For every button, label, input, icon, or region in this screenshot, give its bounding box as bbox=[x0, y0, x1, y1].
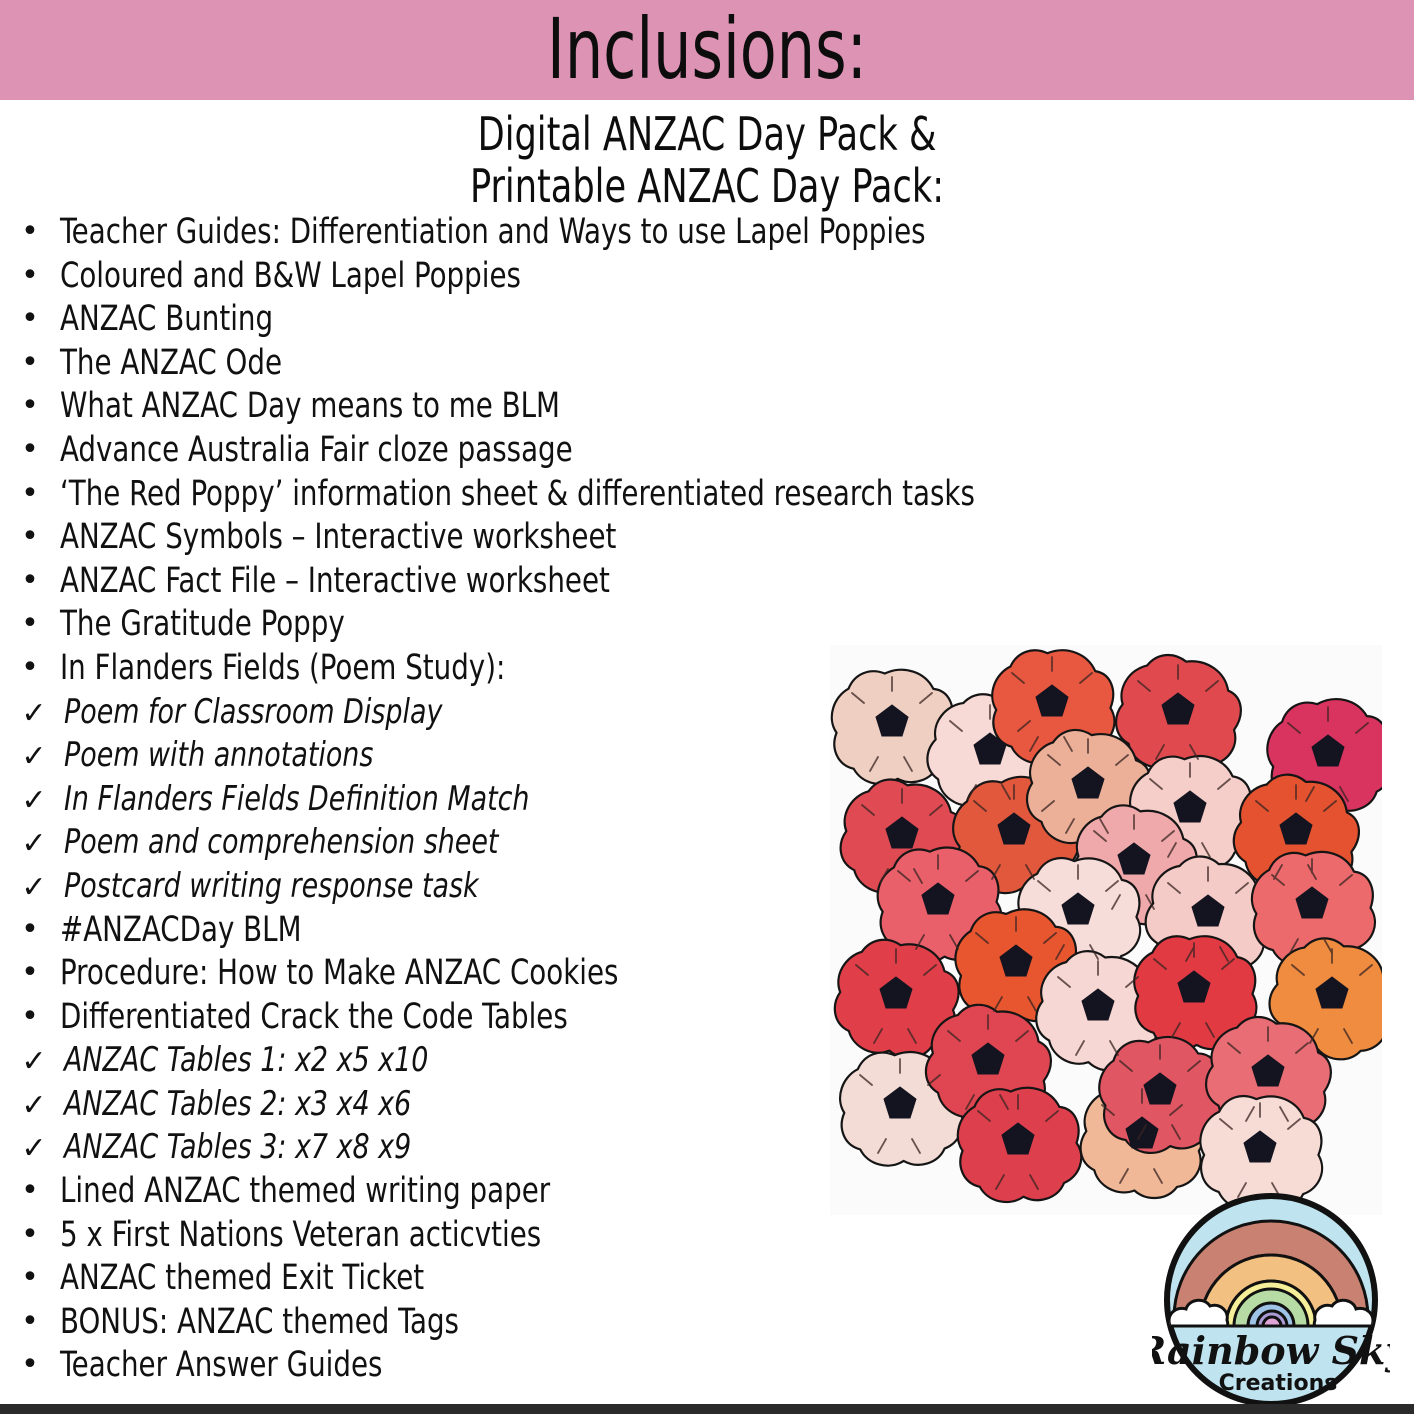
list-item-label: The ANZAC Ode bbox=[60, 344, 282, 382]
bullet-icon: • bbox=[0, 1176, 60, 1206]
page-title: Inclusions: bbox=[547, 10, 867, 90]
check-icon: ✓ bbox=[0, 742, 64, 772]
bullet-icon: • bbox=[0, 304, 60, 334]
header-band: Inclusions: bbox=[0, 0, 1414, 100]
list-item-label: 5 x First Nations Veteran acticvties bbox=[60, 1216, 541, 1254]
check-icon: ✓ bbox=[0, 1091, 64, 1121]
list-item-label: ANZAC Bunting bbox=[60, 300, 273, 338]
bullet-icon: • bbox=[0, 391, 60, 421]
paper-poppies-photo bbox=[830, 645, 1382, 1215]
list-item: •5 x First Nations Veteran acticvties bbox=[0, 1216, 830, 1260]
rainbow-sky-creations-logo: Rainbow Sky Creations bbox=[1152, 1192, 1390, 1414]
bullet-icon: • bbox=[0, 1220, 60, 1250]
list-item: •BONUS: ANZAC themed Tags bbox=[0, 1303, 830, 1347]
list-item: •Teacher Guides: Differentiation and Way… bbox=[0, 213, 830, 257]
bullet-icon: • bbox=[0, 609, 60, 639]
list-item: •#ANZACDay BLM bbox=[0, 911, 830, 955]
list-item-label: ‘The Red Poppy’ information sheet & diff… bbox=[60, 475, 975, 513]
bottom-band bbox=[0, 1404, 1414, 1414]
list-item: ✓Poem with annotations bbox=[0, 736, 830, 780]
list-item-label: Lined ANZAC themed writing paper bbox=[60, 1172, 550, 1210]
list-item-label: Poem for Classroom Display bbox=[64, 693, 442, 731]
bullet-icon: • bbox=[0, 479, 60, 509]
list-item: ✓ANZAC Tables 2: x3 x4 x6 bbox=[0, 1085, 830, 1129]
list-item: ✓Poem and comprehension sheet bbox=[0, 823, 830, 867]
check-icon: ✓ bbox=[0, 699, 64, 729]
list-item-label: Poem with annotations bbox=[64, 736, 373, 774]
list-item: •Advance Australia Fair cloze passage bbox=[0, 431, 830, 475]
list-item: ✓ANZAC Tables 1: x2 x5 x10 bbox=[0, 1041, 830, 1085]
check-icon: ✓ bbox=[0, 786, 64, 816]
list-item: ✓In Flanders Fields Definition Match bbox=[0, 780, 830, 824]
logo-title: Rainbow Sky bbox=[1152, 1328, 1390, 1373]
list-item-label: ANZAC Tables 2: x3 x4 x6 bbox=[64, 1085, 411, 1123]
list-item-label: ANZAC Tables 1: x2 x5 x10 bbox=[64, 1041, 428, 1079]
list-item: ✓Poem for Classroom Display bbox=[0, 693, 830, 737]
list-item-label: ANZAC Tables 3: x7 x8 x9 bbox=[64, 1128, 411, 1166]
list-item-label: Teacher Answer Guides bbox=[60, 1346, 382, 1384]
bullet-icon: • bbox=[0, 348, 60, 378]
list-item: ✓ANZAC Tables 3: x7 x8 x9 bbox=[0, 1128, 830, 1172]
list-item: •What ANZAC Day means to me BLM bbox=[0, 387, 830, 431]
list-item-label: Postcard writing response task bbox=[64, 867, 479, 905]
subtitle-line-2: Printable ANZAC Day Pack: bbox=[106, 160, 1308, 212]
list-item-label: In Flanders Fields (Poem Study): bbox=[60, 649, 505, 687]
list-item-label: ANZAC Fact File – Interactive worksheet bbox=[60, 562, 610, 600]
bullet-icon: • bbox=[0, 522, 60, 552]
list-item: •Teacher Answer Guides bbox=[0, 1346, 830, 1390]
subtitle-block: Digital ANZAC Day Pack & Printable ANZAC… bbox=[0, 108, 1414, 212]
list-item-label: Teacher Guides: Differentiation and Ways… bbox=[60, 213, 926, 251]
list-item: •Coloured and B&W Lapel Poppies bbox=[0, 257, 830, 301]
list-item-label: In Flanders Fields Definition Match bbox=[64, 780, 530, 818]
list-item-label: The Gratitude Poppy bbox=[60, 605, 345, 643]
check-icon: ✓ bbox=[0, 873, 64, 903]
bullet-icon: • bbox=[0, 435, 60, 465]
list-item: •‘The Red Poppy’ information sheet & dif… bbox=[0, 475, 830, 519]
check-icon: ✓ bbox=[0, 1047, 64, 1077]
list-item: •ANZAC Bunting bbox=[0, 300, 830, 344]
list-item: •ANZAC Fact File – Interactive worksheet bbox=[0, 562, 830, 606]
bullet-icon: • bbox=[0, 261, 60, 291]
bullet-icon: • bbox=[0, 915, 60, 945]
subtitle-line-1: Digital ANZAC Day Pack & bbox=[106, 108, 1308, 160]
list-item-label: #ANZACDay BLM bbox=[60, 911, 302, 949]
list-item-label: ANZAC Symbols – Interactive worksheet bbox=[60, 518, 616, 556]
bullet-icon: • bbox=[0, 566, 60, 596]
list-item: •ANZAC Symbols – Interactive worksheet bbox=[0, 518, 830, 562]
list-item-label: Procedure: How to Make ANZAC Cookies bbox=[60, 954, 618, 992]
list-item-label: ANZAC themed Exit Ticket bbox=[60, 1259, 424, 1297]
list-item-label: Coloured and B&W Lapel Poppies bbox=[60, 257, 521, 295]
logo-subtitle: Creations bbox=[1219, 1371, 1338, 1396]
bullet-icon: • bbox=[0, 653, 60, 683]
inclusions-list: •Teacher Guides: Differentiation and Way… bbox=[0, 213, 830, 1390]
bullet-icon: • bbox=[0, 1307, 60, 1337]
bullet-icon: • bbox=[0, 1002, 60, 1032]
list-item-label: Differentiated Crack the Code Tables bbox=[60, 998, 568, 1036]
list-item-label: Advance Australia Fair cloze passage bbox=[60, 431, 573, 469]
list-item: •Differentiated Crack the Code Tables bbox=[0, 998, 830, 1042]
list-item: •Procedure: How to Make ANZAC Cookies bbox=[0, 954, 830, 998]
check-icon: ✓ bbox=[0, 1134, 64, 1164]
list-item-label: BONUS: ANZAC themed Tags bbox=[60, 1303, 459, 1341]
list-item-label: What ANZAC Day means to me BLM bbox=[60, 387, 560, 425]
check-icon: ✓ bbox=[0, 829, 64, 859]
bullet-icon: • bbox=[0, 958, 60, 988]
list-item: ✓Postcard writing response task bbox=[0, 867, 830, 911]
list-item: •The ANZAC Ode bbox=[0, 344, 830, 388]
list-item: •ANZAC themed Exit Ticket bbox=[0, 1259, 830, 1303]
bullet-icon: • bbox=[0, 1350, 60, 1380]
list-item-label: Poem and comprehension sheet bbox=[64, 823, 498, 861]
list-item: •In Flanders Fields (Poem Study): bbox=[0, 649, 830, 693]
list-item: •Lined ANZAC themed writing paper bbox=[0, 1172, 830, 1216]
list-item: •The Gratitude Poppy bbox=[0, 605, 830, 649]
bullet-icon: • bbox=[0, 1263, 60, 1293]
bullet-icon: • bbox=[0, 217, 60, 247]
